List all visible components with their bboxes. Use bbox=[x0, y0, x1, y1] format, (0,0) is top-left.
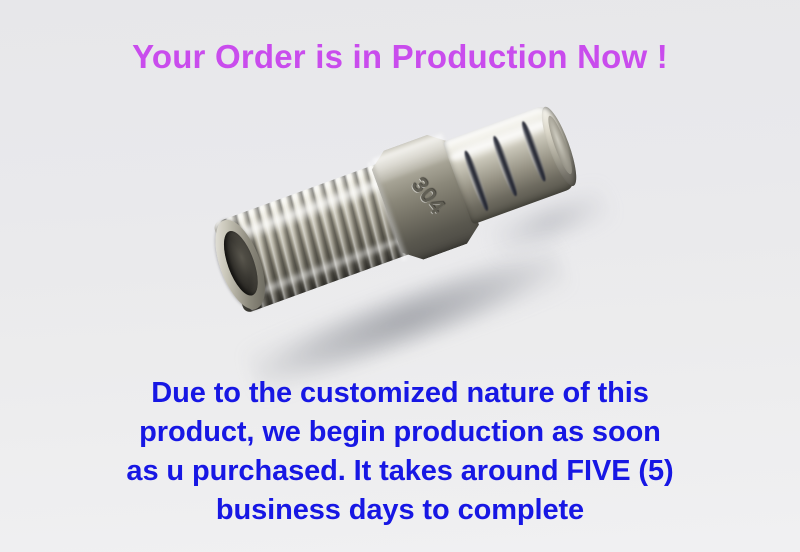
product-image: 304 bbox=[190, 140, 610, 380]
announcement-graphic: Your Order is in Production Now ! 304 bbox=[0, 0, 800, 552]
material-grade-stamp-text: 304 bbox=[406, 172, 451, 219]
page-title: Your Order is in Production Now ! bbox=[0, 38, 800, 76]
notice-line: Due to the customized nature of this bbox=[0, 374, 800, 413]
notice-line: product, we begin production as soon bbox=[0, 413, 800, 452]
production-notice: Due to the customized nature of this pro… bbox=[0, 374, 800, 530]
notice-line: business days to complete bbox=[0, 491, 800, 530]
notice-line: as u purchased. It takes around FIVE (5) bbox=[0, 452, 800, 491]
